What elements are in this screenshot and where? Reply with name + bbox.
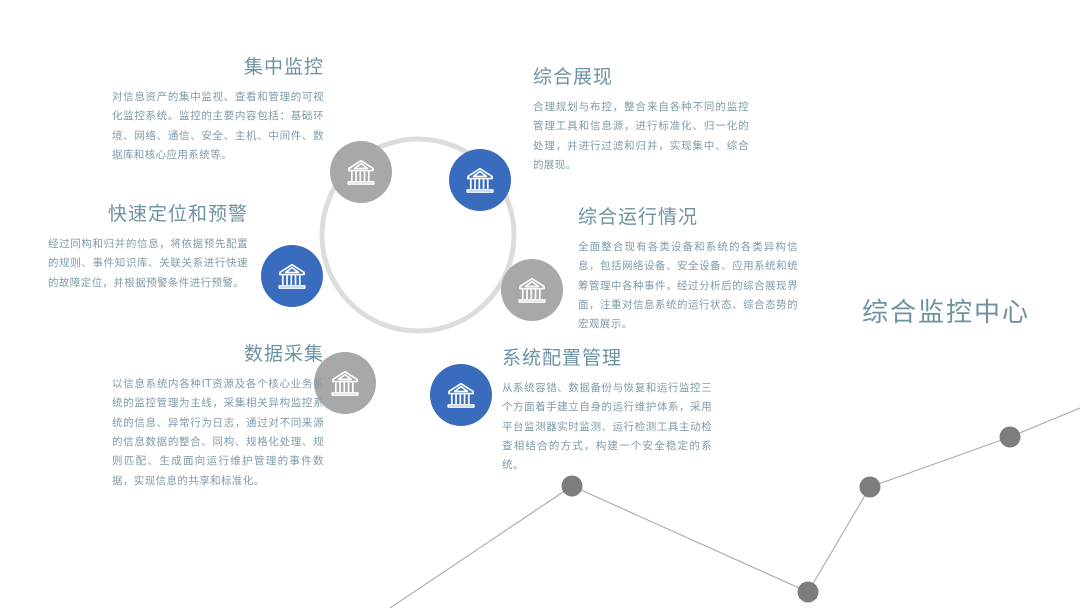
node-left[interactable] <box>261 245 323 307</box>
infographic-canvas: 集中监控 对信息资产的集中监视、查看和管理的可视化监控系统。监控的主要内容包括：… <box>0 0 1080 608</box>
network-node <box>1000 427 1021 448</box>
block-body: 合理规划与布控，整合来自各种不同的监控管理工具和信息源，进行标准化、归一化的处理… <box>533 98 749 176</box>
block-title: 数据采集 <box>112 343 324 366</box>
block-fast-location-alerting: 快速定位和预警 经过同构和归并的信息，将依据预先配置的规则、事件知识库、关联关系… <box>48 203 248 293</box>
block-title: 综合展现 <box>533 66 749 89</box>
node-top-left[interactable] <box>330 141 392 203</box>
block-title: 集中监控 <box>112 56 324 79</box>
block-title: 综合运行情况 <box>578 206 798 229</box>
bank-building-icon <box>328 366 362 400</box>
network-node <box>798 582 819 603</box>
block-body: 全面整合现有各类设备和系统的各类异构信息，包括网络设备、安全设备、应用系统和统筹… <box>578 238 798 335</box>
bank-building-icon <box>444 378 478 412</box>
node-bottom-right[interactable] <box>430 364 492 426</box>
page-title: 综合监控中心 <box>862 292 1030 329</box>
block-body: 对信息资产的集中监视、查看和管理的可视化监控系统。监控的主要内容包括：基础环境、… <box>112 88 324 166</box>
node-right[interactable] <box>501 259 563 321</box>
block-centralized-monitoring: 集中监控 对信息资产的集中监视、查看和管理的可视化监控系统。监控的主要内容包括：… <box>112 56 324 165</box>
node-top-right[interactable] <box>449 149 511 211</box>
bank-building-icon <box>275 259 309 293</box>
block-body: 经过同构和归并的信息，将依据预先配置的规则、事件知识库、关联关系进行快速的故障定… <box>48 235 248 293</box>
block-system-configuration-management: 系统配置管理 从系统容错、数据备份与恢复和运行监控三个方面着手建立自身的运行维护… <box>502 347 712 476</box>
network-node <box>860 477 881 498</box>
block-title: 快速定位和预警 <box>48 203 248 226</box>
block-body: 从系统容错、数据备份与恢复和运行监控三个方面着手建立自身的运行维护体系，采用平台… <box>502 379 712 476</box>
block-integrated-presentation: 综合展现 合理规划与布控，整合来自各种不同的监控管理工具和信息源，进行标准化、归… <box>533 66 749 175</box>
block-operational-status: 综合运行情况 全面整合现有各类设备和系统的各类异构信息，包括网络设备、安全设备、… <box>578 206 798 335</box>
bank-building-icon <box>515 273 549 307</box>
block-title: 系统配置管理 <box>502 347 712 370</box>
block-data-collection: 数据采集 以信息系统内各种IT资源及各个核心业务系统的监控管理为主线，采集相关异… <box>112 343 324 491</box>
block-body: 以信息系统内各种IT资源及各个核心业务系统的监控管理为主线，采集相关异构监控系统… <box>112 375 324 492</box>
bank-building-icon <box>344 155 378 189</box>
bank-building-icon <box>463 163 497 197</box>
network-node <box>562 476 583 497</box>
